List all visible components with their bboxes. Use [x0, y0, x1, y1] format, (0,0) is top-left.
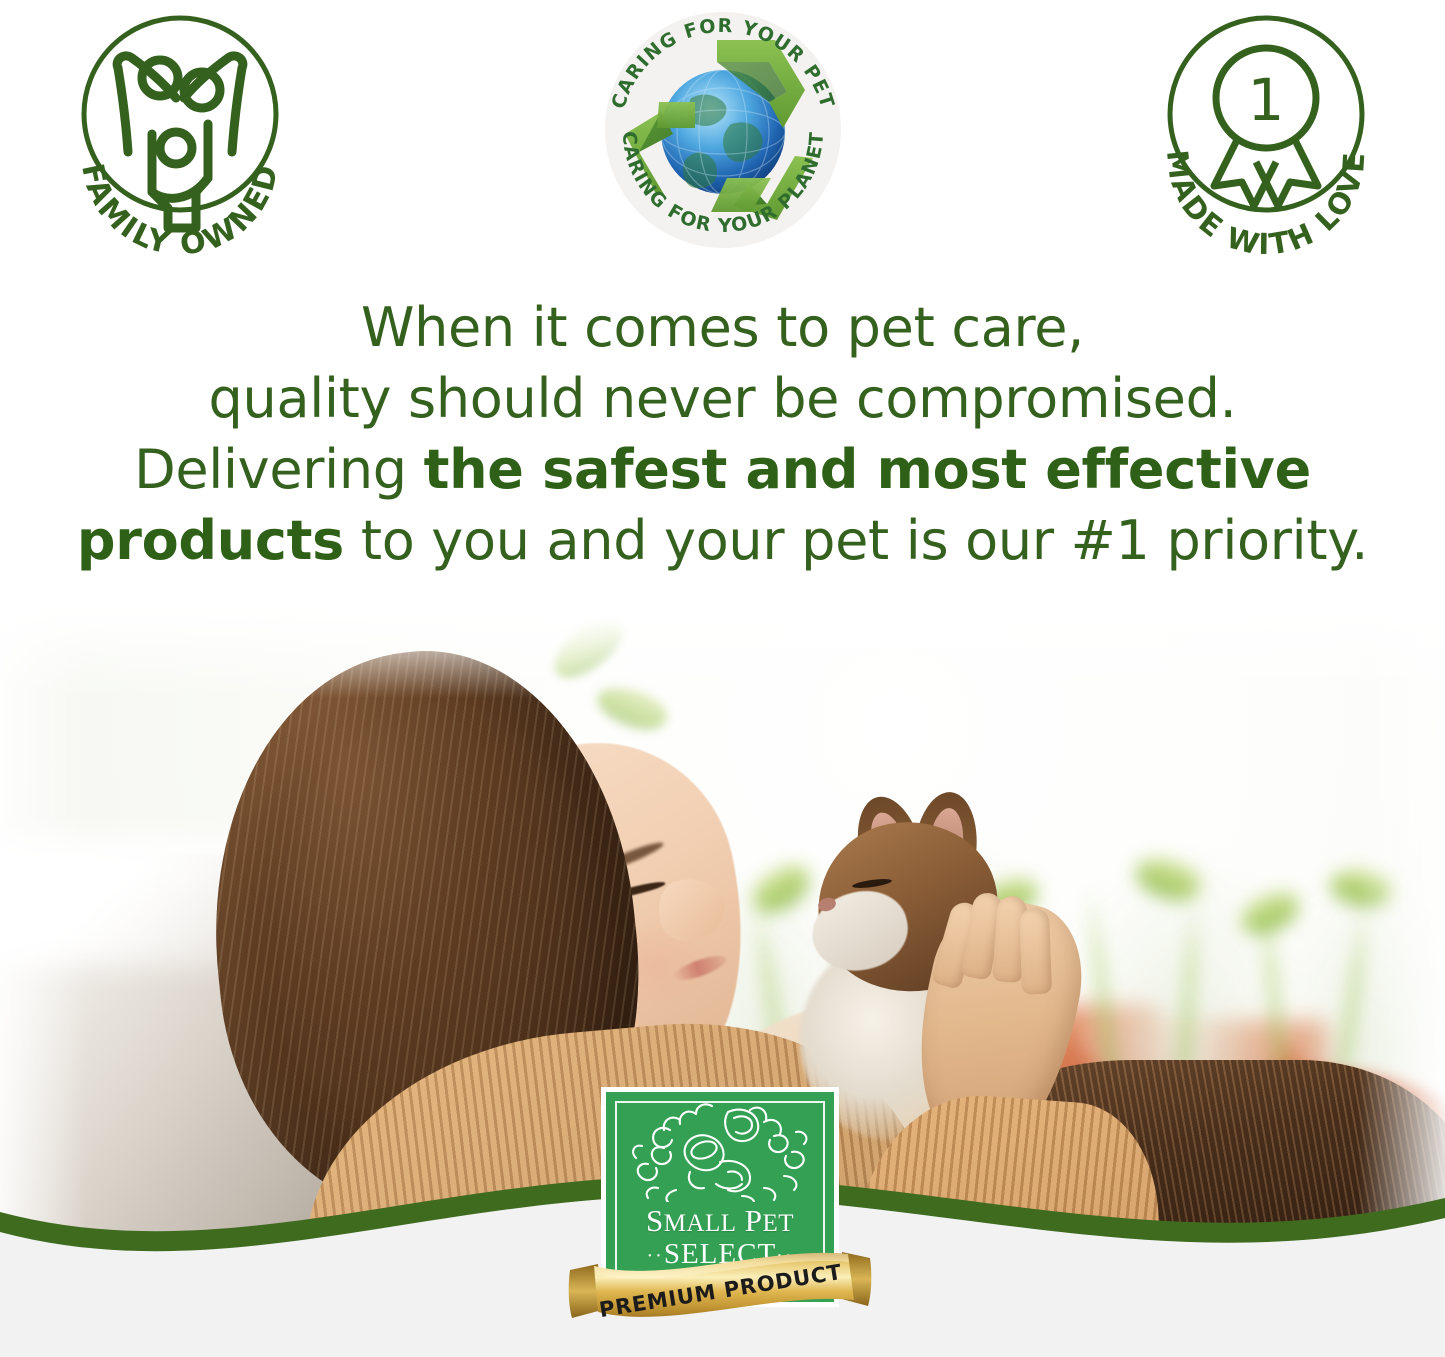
promo-banner: FAMILY OWNED — [0, 0, 1445, 1357]
seal-brand-line-1: SMALL PET — [606, 1204, 834, 1240]
headline: When it comes to pet care, quality shoul… — [0, 292, 1445, 576]
rabbit-filigree-icon — [624, 1100, 816, 1202]
seal-brand-s: S — [646, 1203, 664, 1238]
badge-number: 1 — [1247, 66, 1284, 134]
headline-line-4-plain: to you and your pet is our #1 priority. — [344, 509, 1368, 572]
headline-line-1: When it comes to pet care, — [60, 292, 1385, 363]
headline-line-3-bold: the safest and most effective — [424, 438, 1311, 501]
seal-brand-mall: MALL — [664, 1210, 737, 1237]
headline-line-4: products to you and your pet is our #1 p… — [60, 505, 1385, 576]
badge-caring-planet: CARING FOR YOUR PET CARING FOR YOUR PLAN… — [599, 6, 847, 264]
brand-seal: SMALL PET ··SELECT·· — [606, 1092, 834, 1324]
headline-line-2: quality should never be compromised. — [60, 363, 1385, 434]
badge-family-owned: FAMILY OWNED — [56, 6, 304, 264]
premium-product-ribbon: PREMIUM PRODUCT — [568, 1248, 872, 1326]
headline-line-4-bold: products — [77, 509, 344, 572]
seal-brand-p: P — [737, 1203, 763, 1238]
trust-badge-row: FAMILY OWNED — [0, 0, 1445, 272]
headline-line-3-plain: Delivering — [134, 438, 424, 501]
headline-line-3: Delivering the safest and most effective — [60, 434, 1385, 505]
seal-brand-et: ET — [763, 1210, 795, 1237]
finger-4 — [1019, 908, 1052, 995]
badge-made-with-love: 1 MADE WITH LOVE — [1142, 6, 1390, 264]
badge-made-with-love-label: MADE WITH LOVE — [1159, 148, 1371, 262]
